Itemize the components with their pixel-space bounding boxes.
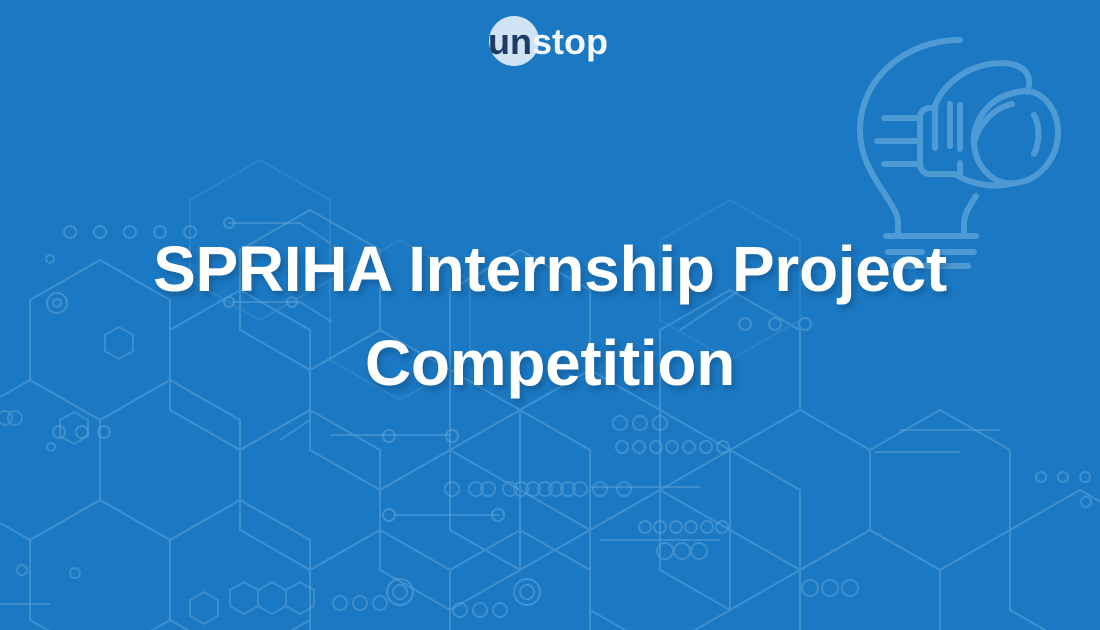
banner-title: SPRIHA Internship Project Competition xyxy=(0,222,1100,410)
logo-text-un: un xyxy=(488,21,532,62)
event-banner: un stop SPRIHA Internship Project Compet… xyxy=(0,0,1100,630)
unstop-logo[interactable]: un stop xyxy=(0,14,1100,68)
banner-title-line-2: Competition xyxy=(0,316,1100,410)
banner-title-line-1: SPRIHA Internship Project xyxy=(0,222,1100,316)
unstop-logo-mark[interactable]: un stop xyxy=(480,14,620,68)
logo-text-stop: stop xyxy=(532,21,608,62)
